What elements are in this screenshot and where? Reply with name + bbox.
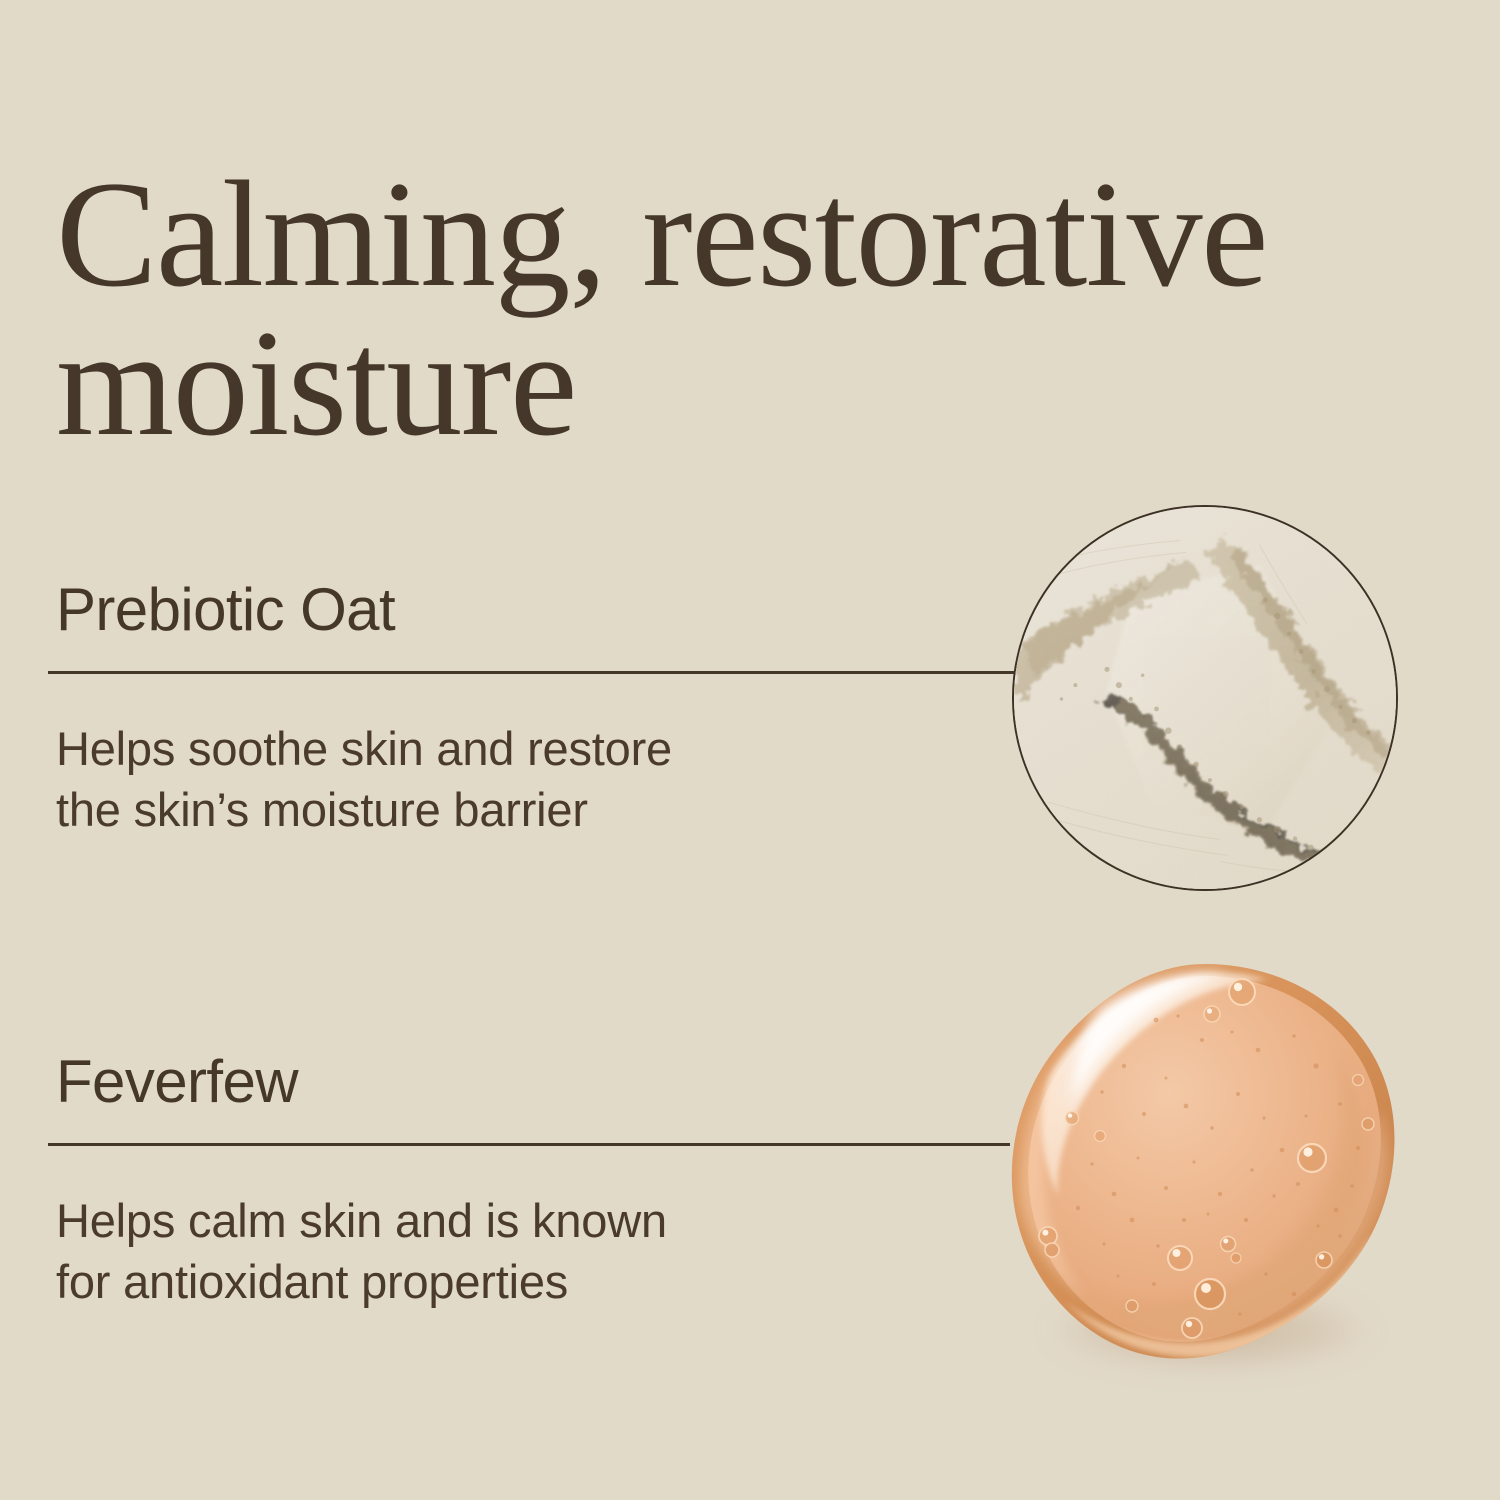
ingredient-description: Helps calm skin and is known for antioxi… [56,1190,1010,1312]
ingredient-title: Prebiotic Oat [56,578,1033,641]
ingredient-block-prebiotic-oat: Prebiotic Oat Helps soothe skin and rest… [48,578,1033,840]
gel-droplet-art [1006,958,1402,1368]
ingredient-divider-rule [48,1143,1010,1146]
feverfew-gel-droplet-image [1006,958,1402,1368]
ingredient-divider-rule [48,671,1033,674]
page-title: Calming, restorative moisture [56,160,1416,458]
oat-powder-texture [1012,505,1398,891]
ingredient-title: Feverfew [56,1050,1010,1113]
ingredient-block-feverfew: Feverfew Helps calm skin and is known fo… [48,1050,1010,1312]
prebiotic-oat-powder-image [1012,505,1398,891]
ingredient-callout-panel: Calming, restorative moisture Prebiotic … [0,0,1500,1500]
ingredient-description: Helps soothe skin and restore the skin’s… [56,718,1033,840]
